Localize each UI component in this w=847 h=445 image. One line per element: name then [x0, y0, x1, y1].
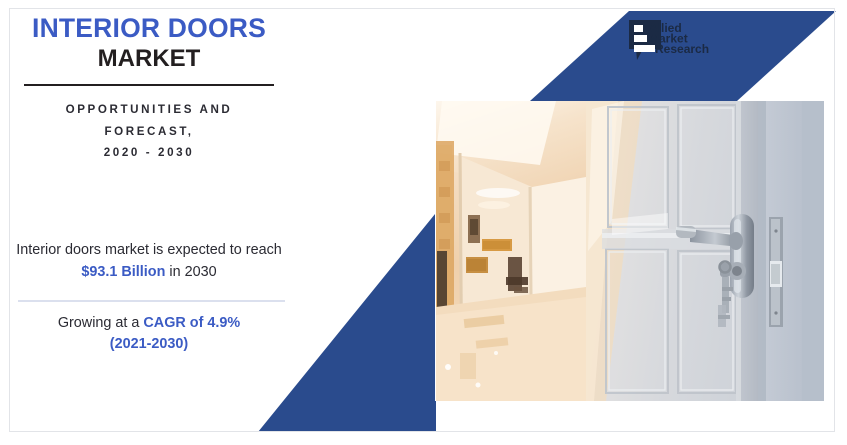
forecast-line-2: FORECAST,	[10, 121, 288, 142]
title-rule	[24, 84, 274, 86]
cagr-highlight: CAGR of 4.9%	[143, 315, 240, 331]
forecast-line-3: 2020 - 2030	[10, 142, 288, 163]
market-value-suffix: in 2030	[165, 264, 216, 280]
interior-door-photo	[436, 101, 824, 401]
market-value-statement: Interior doors market is expected to rea…	[10, 240, 288, 283]
cagr-statement: Growing at a CAGR of 4.9%(2021-2030)	[10, 313, 288, 355]
page-subtitle: MARKET	[10, 45, 288, 73]
allied-market-research-logo[interactable]: Allied Market Research	[627, 18, 711, 63]
infographic-card: Allied Market Research INTERIOR DOORS MA…	[0, 0, 847, 445]
title-block: INTERIOR DOORS MARKET OPPORTUNITIES AND …	[10, 14, 288, 164]
logo-line-3: Research	[655, 42, 709, 56]
cagr-prefix: Growing at a	[58, 315, 144, 331]
market-value-highlight: $93.1 Billion	[81, 264, 165, 280]
market-value-prefix: Interior doors market is expected to rea…	[16, 242, 282, 258]
cagr-period: (2021-2030)	[110, 336, 188, 352]
photo-svg	[436, 101, 824, 401]
statement-divider	[18, 300, 285, 302]
forecast-caption: OPPORTUNITIES AND FORECAST, 2020 - 2030	[10, 99, 288, 163]
page-title: INTERIOR DOORS	[10, 14, 288, 43]
logo-svg: Allied Market Research	[627, 18, 711, 63]
forecast-line-1: OPPORTUNITIES AND	[10, 99, 288, 120]
